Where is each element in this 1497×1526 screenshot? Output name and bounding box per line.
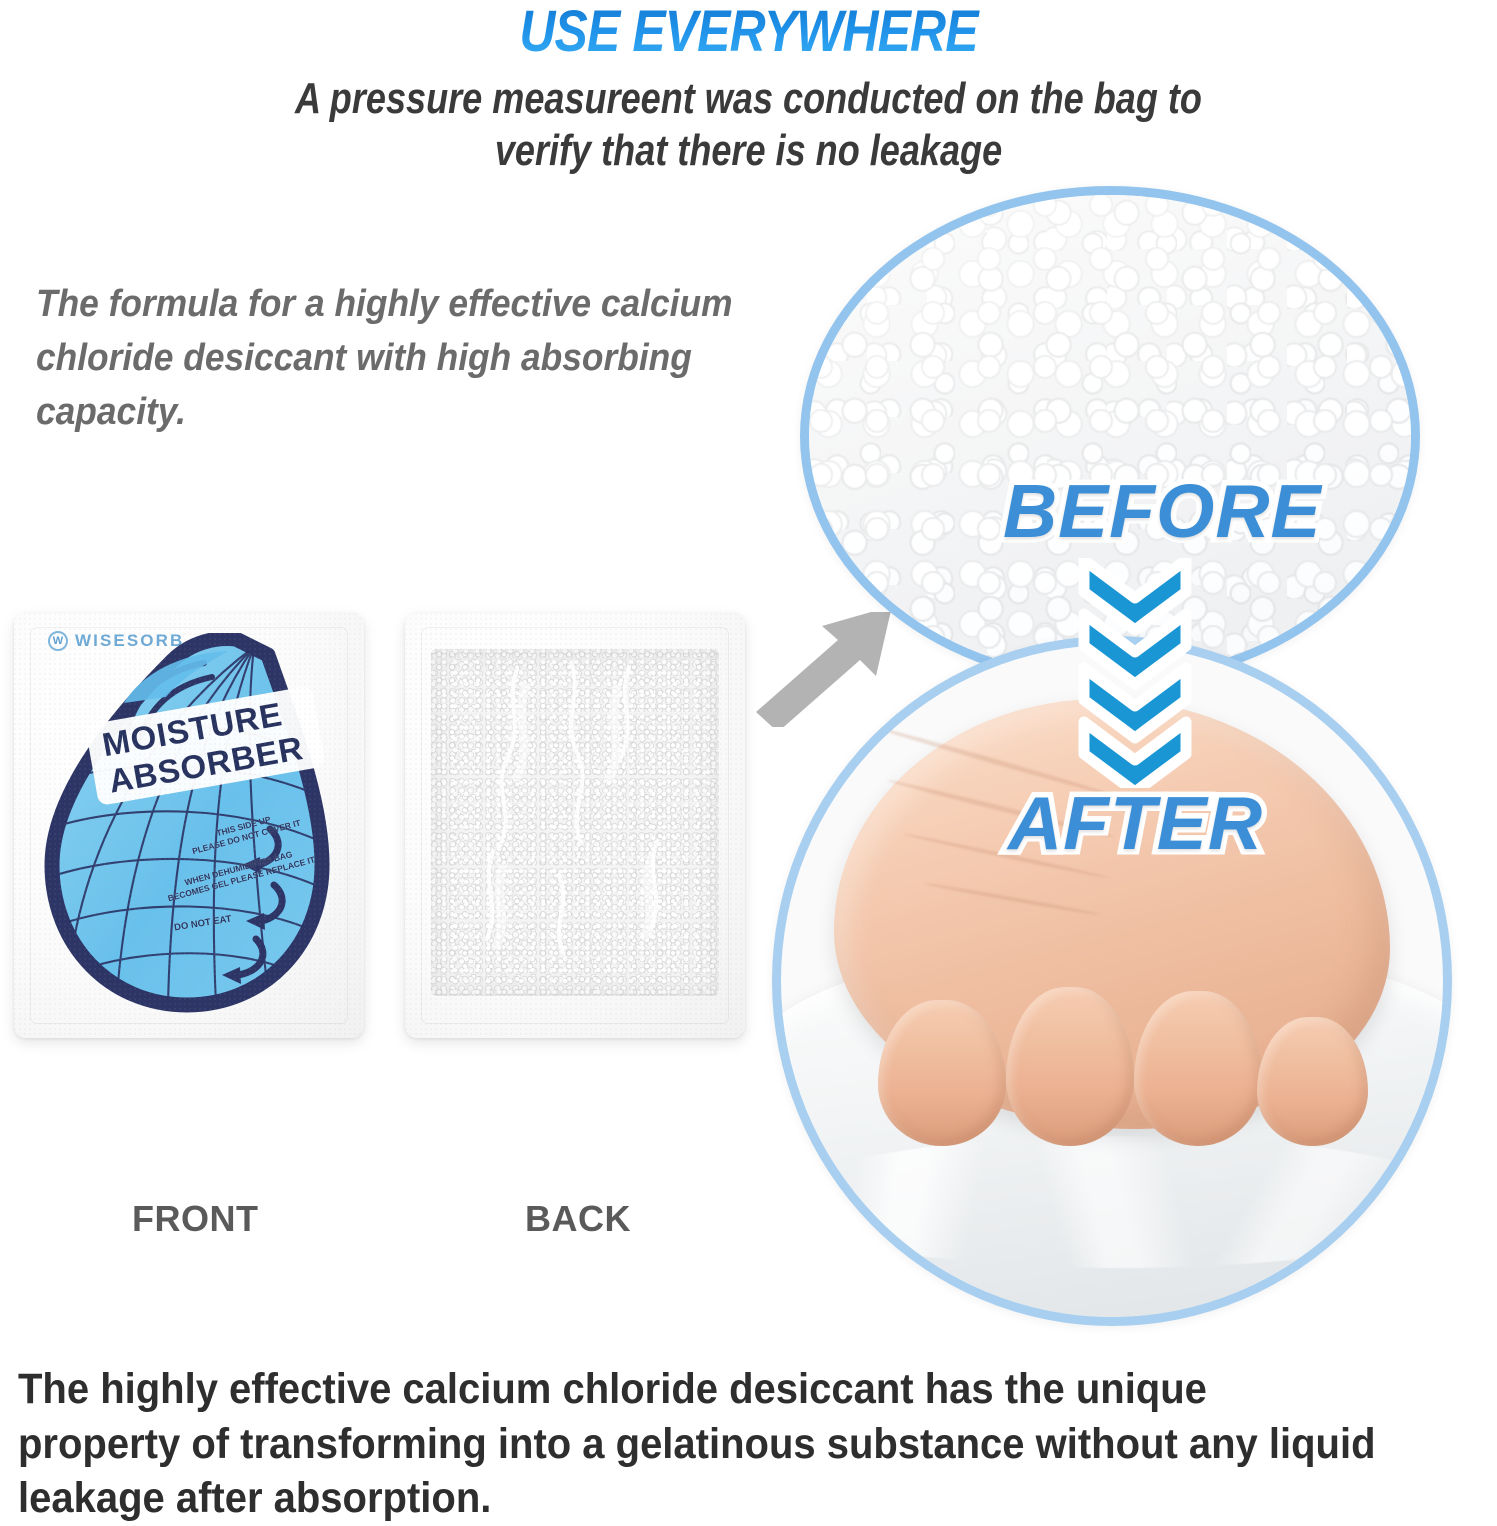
- knuckle: [1134, 991, 1262, 1146]
- sachet-body-front: W WISESORB: [14, 613, 364, 1038]
- front-artwork: W WISESORB: [14, 613, 364, 1038]
- skin-crease: [924, 881, 1100, 916]
- water-droplet-graphic: MOISTURE ABSORBER: [32, 633, 347, 1025]
- desiccant-beads: [431, 649, 719, 996]
- product-back-image: [405, 613, 745, 1038]
- down-chevron-arrows-icon: [1070, 558, 1200, 788]
- knuckle: [878, 1000, 1006, 1146]
- caption-front: FRONT: [132, 1198, 258, 1240]
- gel-sheen: [772, 1136, 1452, 1269]
- knuckle: [1006, 987, 1134, 1146]
- intro-paragraph: The formula for a highly effective calci…: [36, 278, 771, 440]
- header-subtitle-line-2: verify that there is no leakage: [135, 125, 1363, 177]
- knuckle: [1257, 1017, 1368, 1146]
- header-block: USE EVERYWHERE A pressure measureent was…: [0, 0, 1497, 177]
- sachet-body-back: [405, 613, 745, 1038]
- header-subtitle-line-1: A pressure measureent was conducted on t…: [135, 73, 1363, 125]
- before-label: BEFORE: [1003, 468, 1322, 554]
- product-front-image: W WISESORB: [14, 613, 364, 1038]
- page-title: USE EVERYWHERE: [105, 0, 1392, 61]
- after-label: AFTER: [1008, 780, 1263, 866]
- caption-back: BACK: [525, 1198, 631, 1240]
- back-artwork: [421, 627, 729, 1022]
- bottom-paragraph: The highly effective calcium chloride de…: [18, 1362, 1378, 1526]
